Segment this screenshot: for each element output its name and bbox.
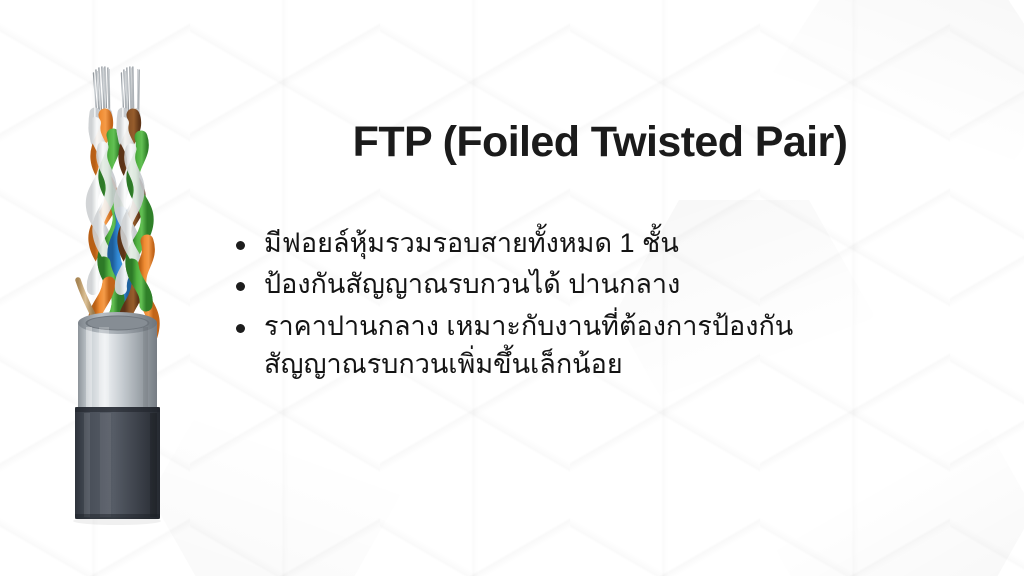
outer-jacket <box>75 407 160 519</box>
bullet-text-3-line-2: สัญญาณรบกวนเพิ่มขึ้นเล็กน้อย <box>264 345 976 383</box>
ftp-cable-image <box>55 55 180 525</box>
bullet-text-3: ราคาปานกลาง เหมาะกับงานที่ต้องการป้องกัน… <box>264 307 976 384</box>
bullet-text-2: ป้องกันสัญญาณรบกวนได้ ปานกลาง <box>264 265 976 303</box>
background-hexagon-bottom-left <box>150 386 400 576</box>
bullet-dot-icon <box>236 324 245 333</box>
background-hexagon-bottom-right <box>754 386 1024 576</box>
background-hexagon-top-right <box>764 0 1024 200</box>
bullet-text-3-line-1: ราคาปานกลาง เหมาะกับงานที่ต้องการป้องกัน <box>264 311 793 341</box>
list-item: ราคาปานกลาง เหมาะกับงานที่ต้องการป้องกัน… <box>236 307 976 384</box>
foil-shield <box>78 312 157 413</box>
list-item: ป้องกันสัญญาณรบกวนได้ ปานกลาง <box>236 265 976 303</box>
conductor-strands-left <box>94 67 112 113</box>
bullet-dot-icon <box>236 241 245 250</box>
bullet-dot-icon <box>236 282 245 291</box>
bullet-list: มีฟอยล์หุ้มรวมรอบสายทั้งหมด 1 ชั้น ป้องก… <box>236 224 976 386</box>
page-title: FTP (Foiled Twisted Pair) <box>240 118 960 167</box>
bullet-text-1: มีฟอยล์หุ้มรวมรอบสายทั้งหมด 1 ชั้น <box>264 224 976 262</box>
conductor-strands-right <box>122 67 140 113</box>
slide-canvas: FTP (Foiled Twisted Pair) มีฟอยล์หุ้มรวม… <box>0 0 1024 576</box>
list-item: มีฟอยล์หุ้มรวมรอบสายทั้งหมด 1 ชั้น <box>236 224 976 262</box>
